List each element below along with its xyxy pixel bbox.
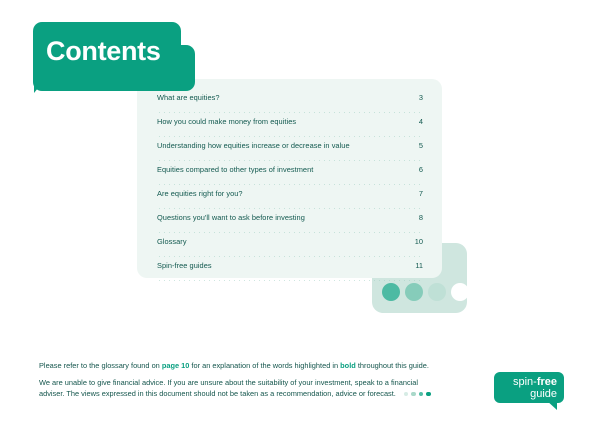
- document-page: Contents What are equities?3How you coul…: [0, 0, 600, 424]
- toc-row-label: Understanding how equities increase or d…: [157, 141, 350, 150]
- footer-line1-part2: for an explanation of the words highligh…: [189, 361, 340, 370]
- logo-line1-light: spin-: [513, 376, 537, 388]
- toc-row[interactable]: Are equities right for you?7: [157, 185, 423, 204]
- toc-row-page-number: 11: [413, 261, 423, 270]
- logo-line-1: spin-free: [494, 376, 557, 388]
- spin-free-guide-logo: spin-free guide: [494, 372, 564, 403]
- toc-row-page-number: 8: [413, 213, 423, 222]
- toc-row[interactable]: How you could make money from equities4: [157, 113, 423, 132]
- toc-row-page-number: 10: [413, 237, 423, 246]
- toc-row-label: Spin-free guides: [157, 261, 212, 270]
- toc-row[interactable]: What are equities?3: [157, 89, 423, 108]
- toc-row-label: What are equities?: [157, 93, 220, 102]
- page-title-bubble: Contents: [33, 22, 181, 91]
- decorative-dot-2: [405, 283, 423, 301]
- glossary-page-link[interactable]: page 10: [162, 361, 190, 370]
- footer-bold-keyword: bold: [340, 361, 356, 370]
- footer-dot-group: [404, 392, 431, 397]
- decorative-dot-row: [382, 283, 469, 301]
- page-title: Contents: [46, 36, 161, 67]
- footer-line-3: adviser. The views expressed in this doc…: [39, 388, 459, 400]
- decorative-dot-3: [428, 283, 446, 301]
- table-of-contents-list: What are equities?3How you could make mo…: [157, 89, 423, 281]
- footer-line1-part1: Please refer to the glossary found on: [39, 361, 162, 370]
- toc-row-page-number: 7: [413, 189, 423, 198]
- footer: Please refer to the glossary found on pa…: [39, 360, 459, 400]
- footer-line3-text: adviser. The views expressed in this doc…: [39, 389, 396, 398]
- footer-line-2: We are unable to give financial advice. …: [39, 377, 459, 389]
- logo-line-2: guide: [494, 388, 557, 400]
- toc-row-page-number: 6: [413, 165, 423, 174]
- footer-dot-3: [419, 392, 424, 397]
- toc-row-label: Questions you'll want to ask before inve…: [157, 213, 305, 222]
- toc-row-page-number: 3: [413, 93, 423, 102]
- footer-dot-1: [404, 392, 409, 397]
- toc-separator: [157, 280, 423, 281]
- footer-dot-4: [426, 392, 431, 397]
- decorative-dot-4: [451, 283, 469, 301]
- toc-row[interactable]: Equities compared to other types of inve…: [157, 161, 423, 180]
- footer-dot-2: [411, 392, 416, 397]
- logo-line1-bold: free: [537, 376, 557, 388]
- footer-line1-part3: throughout this guide.: [356, 361, 429, 370]
- toc-row-page-number: 4: [413, 117, 423, 126]
- toc-row-label: Glossary: [157, 237, 187, 246]
- toc-row[interactable]: Spin-free guides11: [157, 257, 423, 276]
- decorative-dot-1: [382, 283, 400, 301]
- toc-row[interactable]: Understanding how equities increase or d…: [157, 137, 423, 156]
- toc-row-label: Are equities right for you?: [157, 189, 243, 198]
- contents-card: What are equities?3How you could make mo…: [137, 79, 442, 278]
- footer-line-1: Please refer to the glossary found on pa…: [39, 360, 459, 372]
- toc-row[interactable]: Glossary10: [157, 233, 423, 252]
- toc-row[interactable]: Questions you'll want to ask before inve…: [157, 209, 423, 228]
- toc-row-label: How you could make money from equities: [157, 117, 296, 126]
- toc-row-page-number: 5: [413, 141, 423, 150]
- toc-row-label: Equities compared to other types of inve…: [157, 165, 313, 174]
